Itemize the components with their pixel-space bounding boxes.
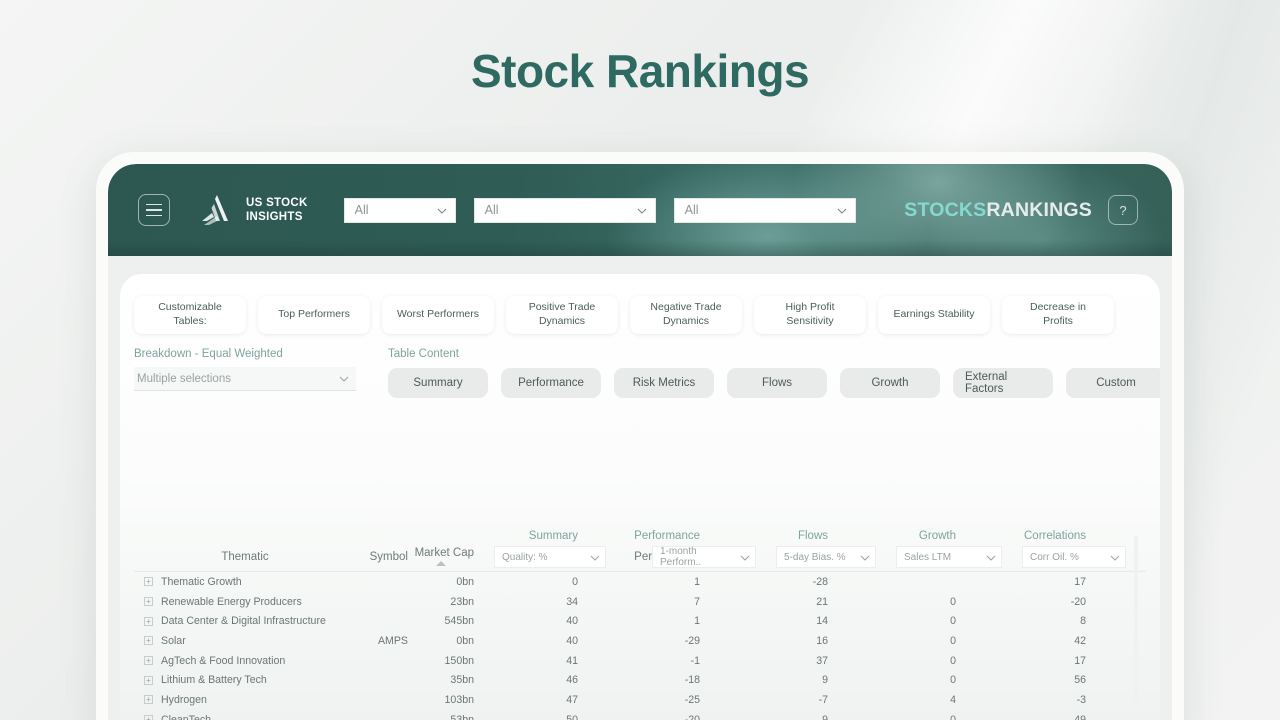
table-content-label: Table Content [388, 348, 1160, 360]
chevron-down-icon [437, 206, 446, 215]
metric-select-1-month-performance-value: 1-month Perform.. [660, 546, 740, 568]
group-header-summary: Summary [474, 530, 578, 542]
row-growth-cell: 0 [828, 635, 956, 647]
group-header-performance: Performance [578, 530, 700, 542]
row-flows-cell: 9 [700, 674, 828, 686]
row-summary-cell: 47 [474, 694, 578, 706]
chevron-down-icon [1110, 553, 1119, 562]
expand-icon[interactable]: + [144, 656, 153, 665]
header-filters: All All All [344, 198, 856, 223]
scrollbar-track [1134, 536, 1138, 720]
row-market-cap-cell: 35bn [408, 674, 474, 686]
row-correlations-cell: 17 [956, 576, 1086, 588]
table-scrollbar[interactable] [1134, 536, 1138, 720]
table-content-control: Table Content Summary Performance Risk M… [388, 348, 1160, 398]
preset-pill-positive-trade-dynamics[interactable]: Positive Trade Dynamics [506, 296, 618, 334]
filter-select-1-value: All [355, 203, 369, 217]
column-header-market-cap[interactable]: Market Cap [408, 547, 474, 566]
help-button[interactable]: ? [1108, 195, 1138, 225]
page-title: Stock Rankings [0, 44, 1280, 98]
row-name-cell: +Solar [134, 635, 346, 647]
expand-icon[interactable]: + [144, 577, 153, 586]
table-row[interactable]: +CleanTech53bn50-209049 [134, 710, 1146, 720]
row-name-cell: +Thematic Growth [134, 576, 346, 588]
preset-pill-top-performers[interactable]: Top Performers [258, 296, 370, 334]
app-title-secondary: RANKINGS [986, 199, 1092, 221]
row-name-label: Lithium & Battery Tech [161, 674, 267, 686]
table-row[interactable]: +Renewable Energy Producers23bn347210-20 [134, 592, 1146, 612]
table-row[interactable]: +SolarAMPS0bn40-2916042 [134, 631, 1146, 651]
preset-pill-high-profit-sensitivity[interactable]: High Profit Sensitivity [754, 296, 866, 334]
filter-select-1[interactable]: All [344, 198, 456, 223]
row-name-label: Data Center & Digital Infrastructure [161, 615, 326, 627]
tablet-device-frame: US STOCK INSIGHTS All All All [96, 152, 1184, 720]
row-correlations-cell: 17 [956, 655, 1086, 667]
expand-icon[interactable]: + [144, 617, 153, 626]
tab-performance[interactable]: Performance [501, 368, 601, 398]
row-market-cap-cell: 23bn [408, 596, 474, 608]
row-flows-cell: -28 [700, 576, 828, 588]
chevron-down-icon [590, 553, 599, 562]
breakdown-select-value: Multiple selections [137, 373, 231, 385]
expand-icon[interactable]: + [144, 636, 153, 645]
chevron-stack-logo-icon [198, 193, 236, 227]
table-group-header-row: Summary Performance Flows Growth Correla… [134, 520, 1146, 542]
tab-growth[interactable]: Growth [840, 368, 940, 398]
row-market-cap-cell: 0bn [408, 635, 474, 647]
metric-select-quality-value: Quality: % [502, 552, 548, 563]
hamburger-icon[interactable] [138, 194, 170, 226]
preset-pill-customizable-tables[interactable]: Customizable Tables: [134, 296, 246, 334]
brand-name: US STOCK INSIGHTS [246, 196, 308, 225]
row-performance-cell: -25 [578, 694, 700, 706]
metric-select-corr-oil[interactable]: Corr Oil. % [1022, 546, 1126, 568]
row-name-cell: +AgTech & Food Innovation [134, 655, 346, 667]
preset-pill-decrease-in-profits[interactable]: Decrease in Profits [1002, 296, 1114, 334]
row-name-cell: +Hydrogen [134, 694, 346, 706]
tab-external-factors[interactable]: External Factors [953, 368, 1053, 398]
table-body: +Thematic Growth0bn01-2817+Renewable Ene… [134, 572, 1146, 720]
row-performance-cell: 1 [578, 615, 700, 627]
row-growth-cell: 0 [828, 615, 956, 627]
table-row[interactable]: +Lithium & Battery Tech35bn46-189056 [134, 670, 1146, 690]
row-name-label: Solar [161, 635, 186, 647]
preset-pill-row: Customizable Tables: Top Performers Wors… [120, 274, 1160, 334]
row-performance-cell: -18 [578, 674, 700, 686]
table-header-row: Thematic Symbol Market Cap Summary Perfo… [134, 542, 1146, 572]
metric-select-quality[interactable]: Quality: % [494, 546, 606, 568]
row-performance-cell: -1 [578, 655, 700, 667]
row-market-cap-cell: 53bn [408, 714, 474, 720]
row-performance-cell: 1 [578, 576, 700, 588]
app-title-primary: STOCKS [904, 199, 986, 221]
row-name-cell: +Renewable Energy Producers [134, 596, 346, 608]
chevron-down-icon [860, 553, 869, 562]
row-name-label: Hydrogen [161, 694, 207, 706]
row-summary-cell: 0 [474, 576, 578, 588]
metric-select-sales-ltm[interactable]: Sales LTM [896, 546, 1002, 568]
preset-pill-earnings-stability[interactable]: Earnings Stability [878, 296, 990, 334]
preset-pill-negative-trade-dynamics[interactable]: Negative Trade Dynamics [630, 296, 742, 334]
table-content-tabs: Summary Performance Risk Metrics Flows G… [388, 368, 1160, 398]
row-symbol-cell: AMPS [346, 635, 408, 647]
brand: US STOCK INSIGHTS [198, 193, 308, 227]
row-growth-cell: 0 [828, 655, 956, 667]
controls-row: Breakdown - Equal Weighted Multiple sele… [120, 334, 1160, 398]
row-performance-cell: -29 [578, 635, 700, 647]
app-header-right: STOCKSRANKINGS ? [904, 195, 1138, 225]
chevron-down-icon [339, 374, 348, 383]
row-name-cell: +CleanTech [134, 714, 346, 720]
metric-select-sales-ltm-value: Sales LTM [904, 552, 951, 563]
app-title: STOCKSRANKINGS [904, 199, 1092, 222]
row-name-label: Thematic Growth [161, 576, 242, 588]
row-flows-cell: 9 [700, 714, 828, 720]
row-summary-cell: 40 [474, 615, 578, 627]
rankings-table: Summary Performance Flows Growth Correla… [134, 520, 1146, 720]
metric-select-1-month-performance[interactable]: 1-month Perform.. [652, 546, 756, 568]
metric-select-5-day-bias[interactable]: 5-day Bias. % [776, 546, 876, 568]
row-growth-cell: 0 [828, 714, 956, 720]
row-correlations-cell: 49 [956, 714, 1086, 720]
row-summary-cell: 34 [474, 596, 578, 608]
filter-select-2-value: All [485, 203, 499, 217]
row-summary-cell: 46 [474, 674, 578, 686]
row-correlations-cell: 8 [956, 615, 1086, 627]
chevron-down-icon [637, 206, 646, 215]
row-summary-cell: 50 [474, 714, 578, 720]
column-header-market-cap-label: Market Cap [415, 547, 474, 559]
row-name-label: Renewable Energy Producers [161, 596, 302, 608]
metric-select-5-day-bias-value: 5-day Bias. % [784, 552, 846, 563]
group-header-growth: Growth [828, 530, 956, 542]
tablet-screen: US STOCK INSIGHTS All All All [108, 164, 1172, 720]
row-market-cap-cell: 545bn [408, 615, 474, 627]
breakdown-label: Breakdown - Equal Weighted [134, 348, 356, 360]
table-row[interactable]: +Hydrogen103bn47-25-74-3 [134, 690, 1146, 710]
table-row[interactable]: +Thematic Growth0bn01-2817 [134, 572, 1146, 592]
metric-select-corr-oil-value: Corr Oil. % [1030, 552, 1079, 563]
row-correlations-cell: 42 [956, 635, 1086, 647]
row-growth-cell: 0 [828, 674, 956, 686]
content-panel: Customizable Tables: Top Performers Wors… [120, 274, 1160, 720]
row-performance-cell: -20 [578, 714, 700, 720]
row-performance-cell: 7 [578, 596, 700, 608]
row-flows-cell: 37 [700, 655, 828, 667]
row-flows-cell: -7 [700, 694, 828, 706]
column-header-symbol[interactable]: Symbol [346, 551, 408, 563]
expand-icon[interactable]: + [144, 695, 153, 704]
row-name-label: AgTech & Food Innovation [161, 655, 285, 667]
row-market-cap-cell: 0bn [408, 576, 474, 588]
row-growth-cell: 4 [828, 694, 956, 706]
row-flows-cell: 16 [700, 635, 828, 647]
chevron-down-icon [837, 206, 846, 215]
breakdown-select[interactable]: Multiple selections [134, 367, 356, 391]
row-name-cell: +Lithium & Battery Tech [134, 674, 346, 686]
row-summary-cell: 41 [474, 655, 578, 667]
row-name-cell: +Data Center & Digital Infrastructure [134, 615, 346, 627]
row-correlations-cell: -3 [956, 694, 1086, 706]
row-name-label: CleanTech [161, 714, 211, 720]
row-market-cap-cell: 103bn [408, 694, 474, 706]
table-row[interactable]: +Data Center & Digital Infrastructure545… [134, 611, 1146, 631]
expand-icon[interactable]: + [144, 676, 153, 685]
tab-flows[interactable]: Flows [727, 368, 827, 398]
row-flows-cell: 14 [700, 615, 828, 627]
tab-risk-metrics[interactable]: Risk Metrics [614, 368, 714, 398]
filter-select-3-value: All [685, 203, 699, 217]
filter-select-2[interactable]: All [474, 198, 656, 223]
column-header-thematic[interactable]: Thematic [134, 551, 346, 563]
preset-pill-worst-performers[interactable]: Worst Performers [382, 296, 494, 334]
row-summary-cell: 40 [474, 635, 578, 647]
chevron-down-icon [740, 553, 749, 562]
row-flows-cell: 21 [700, 596, 828, 608]
tab-custom[interactable]: Custom [1066, 368, 1160, 398]
row-correlations-cell: 56 [956, 674, 1086, 686]
table-row[interactable]: +AgTech & Food Innovation150bn41-137017 [134, 651, 1146, 671]
row-market-cap-cell: 150bn [408, 655, 474, 667]
row-correlations-cell: -20 [956, 596, 1086, 608]
breakdown-control: Breakdown - Equal Weighted Multiple sele… [134, 348, 356, 391]
app-header-bar: US STOCK INSIGHTS All All All [108, 164, 1172, 256]
row-growth-cell: 0 [828, 596, 956, 608]
expand-icon[interactable]: + [144, 597, 153, 606]
chevron-down-icon [986, 553, 995, 562]
expand-icon[interactable]: + [144, 715, 153, 720]
group-header-flows: Flows [700, 530, 828, 542]
tab-summary[interactable]: Summary [388, 368, 488, 398]
filter-select-3[interactable]: All [674, 198, 856, 223]
sort-ascending-icon [436, 561, 446, 566]
group-header-correlations: Correlations [956, 530, 1086, 542]
